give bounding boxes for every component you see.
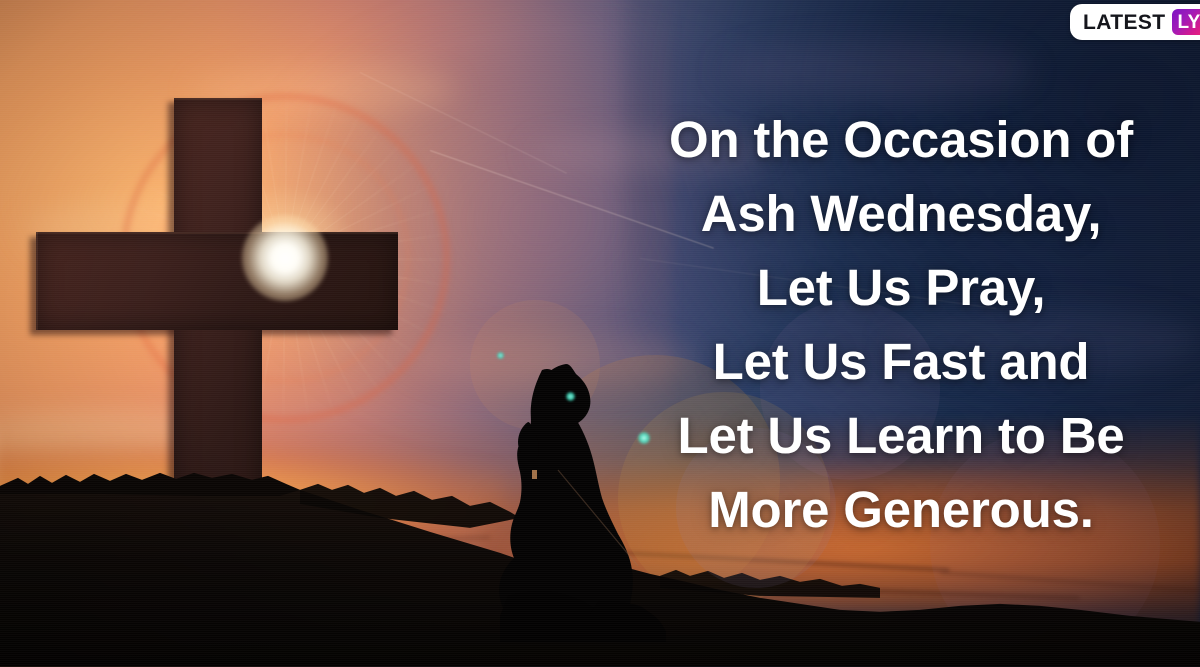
cross-beam-highlight	[174, 98, 262, 100]
greeting-message: On the Occasion of Ash Wednesday, Let Us…	[612, 103, 1190, 547]
message-line-1: On the Occasion of	[612, 103, 1190, 177]
cross-beam-highlight	[36, 232, 398, 234]
message-line-2: Ash Wednesday,	[612, 177, 1190, 251]
message-line-6: More Generous.	[612, 473, 1190, 547]
latestly-logo[interactable]: LATEST LY	[1070, 4, 1200, 40]
lens-flare-dot	[566, 392, 575, 401]
cross-vertical-beam	[174, 98, 262, 658]
logo-ly-badge: LY	[1172, 9, 1200, 35]
logo-wordmark: LATEST	[1083, 12, 1166, 33]
cross-beam-highlight	[36, 232, 38, 330]
message-line-3: Let Us Pray,	[612, 251, 1190, 325]
message-line-4: Let Us Fast and	[612, 325, 1190, 399]
logo-badge-text: LY	[1177, 13, 1200, 32]
greeting-card-canvas: On the Occasion of Ash Wednesday, Let Us…	[0, 0, 1200, 667]
cross-horizontal-beam	[36, 232, 398, 330]
lens-flare-dot	[497, 352, 504, 359]
sun-core-flare	[242, 215, 328, 301]
message-line-5: Let Us Learn to Be	[612, 399, 1190, 473]
